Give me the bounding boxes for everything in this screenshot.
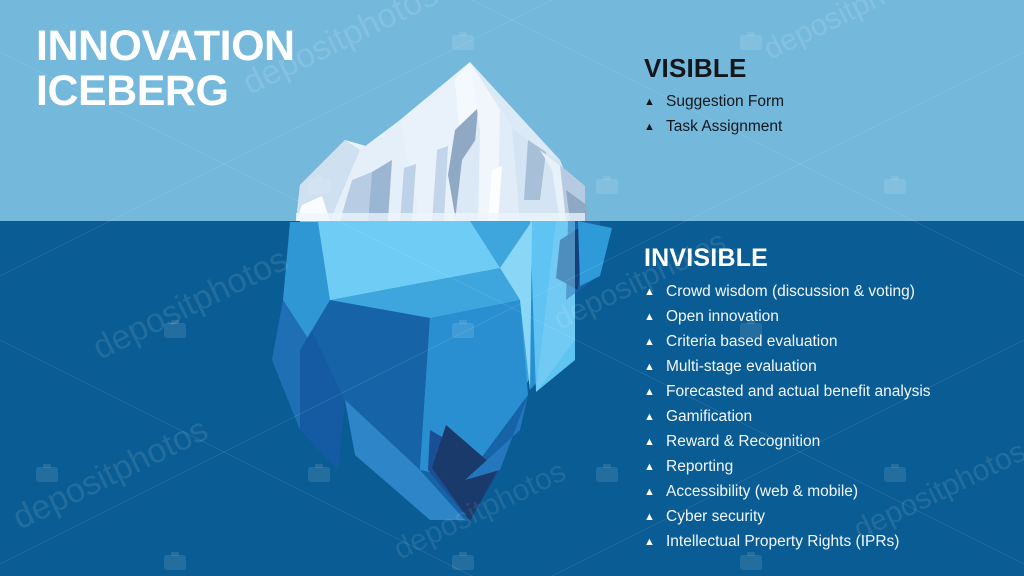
list-item-label: Criteria based evaluation	[666, 330, 837, 353]
invisible-panel: INVISIBLE ▲ Crowd wisdom (discussion & v…	[644, 246, 1016, 555]
list-item-label: Intellectual Property Rights (IPRs)	[666, 530, 899, 553]
iceberg-infographic: INNOVATION ICEBERG VISIBLE ▲ Suggestion …	[0, 0, 1024, 576]
triangle-bullet-icon: ▲	[644, 531, 666, 554]
list-item-label: Suggestion Form	[666, 90, 784, 113]
triangle-bullet-icon: ▲	[644, 456, 666, 479]
triangle-bullet-icon: ▲	[644, 306, 666, 329]
triangle-bullet-icon: ▲	[644, 381, 666, 404]
list-item: ▲ Gamification	[644, 405, 1016, 430]
list-item-label: Multi-stage evaluation	[666, 355, 817, 378]
page-title: INNOVATION ICEBERG	[36, 24, 476, 114]
list-item-label: Open innovation	[666, 305, 779, 328]
triangle-bullet-icon: ▲	[644, 481, 666, 504]
list-item: ▲ Cyber security	[644, 505, 1016, 530]
invisible-heading: INVISIBLE	[644, 246, 1016, 271]
triangle-bullet-icon: ▲	[644, 406, 666, 429]
invisible-list: ▲ Crowd wisdom (discussion & voting) ▲ O…	[644, 280, 1016, 555]
triangle-bullet-icon: ▲	[644, 506, 666, 529]
list-item: ▲ Multi-stage evaluation	[644, 355, 1016, 380]
list-item-label: Reporting	[666, 455, 733, 478]
triangle-bullet-icon: ▲	[644, 331, 666, 354]
visible-panel: VISIBLE ▲ Suggestion Form ▲ Task Assignm…	[644, 55, 1016, 140]
list-item: ▲ Reward & Recognition	[644, 430, 1016, 455]
list-item-label: Gamification	[666, 405, 752, 428]
list-item-label: Reward & Recognition	[666, 430, 820, 453]
list-item: ▲ Criteria based evaluation	[644, 330, 1016, 355]
triangle-bullet-icon: ▲	[644, 281, 666, 304]
list-item: ▲ Crowd wisdom (discussion & voting)	[644, 280, 1016, 305]
visible-heading: VISIBLE	[644, 55, 1016, 81]
list-item: ▲ Reporting	[644, 455, 1016, 480]
list-item: ▲ Suggestion Form	[644, 90, 1016, 115]
triangle-bullet-icon: ▲	[644, 116, 666, 139]
list-item-label: Task Assignment	[666, 115, 782, 138]
triangle-bullet-icon: ▲	[644, 91, 666, 114]
list-item: ▲ Open innovation	[644, 305, 1016, 330]
list-item-label: Cyber security	[666, 505, 765, 528]
list-item: ▲ Forecasted and actual benefit analysis	[644, 380, 1016, 405]
triangle-bullet-icon: ▲	[644, 431, 666, 454]
title-line-2: ICEBERG	[36, 69, 476, 114]
list-item-label: Crowd wisdom (discussion & voting)	[666, 280, 915, 303]
list-item-label: Accessibility (web & mobile)	[666, 480, 858, 503]
list-item-label: Forecasted and actual benefit analysis	[666, 380, 931, 403]
title-line-1: INNOVATION	[36, 22, 295, 70]
list-item: ▲ Intellectual Property Rights (IPRs)	[644, 530, 1016, 555]
list-item: ▲ Task Assignment	[644, 115, 1016, 140]
triangle-bullet-icon: ▲	[644, 356, 666, 379]
visible-list: ▲ Suggestion Form ▲ Task Assignment	[644, 90, 1016, 140]
iceberg-underwater	[272, 221, 612, 521]
list-item: ▲ Accessibility (web & mobile)	[644, 480, 1016, 505]
